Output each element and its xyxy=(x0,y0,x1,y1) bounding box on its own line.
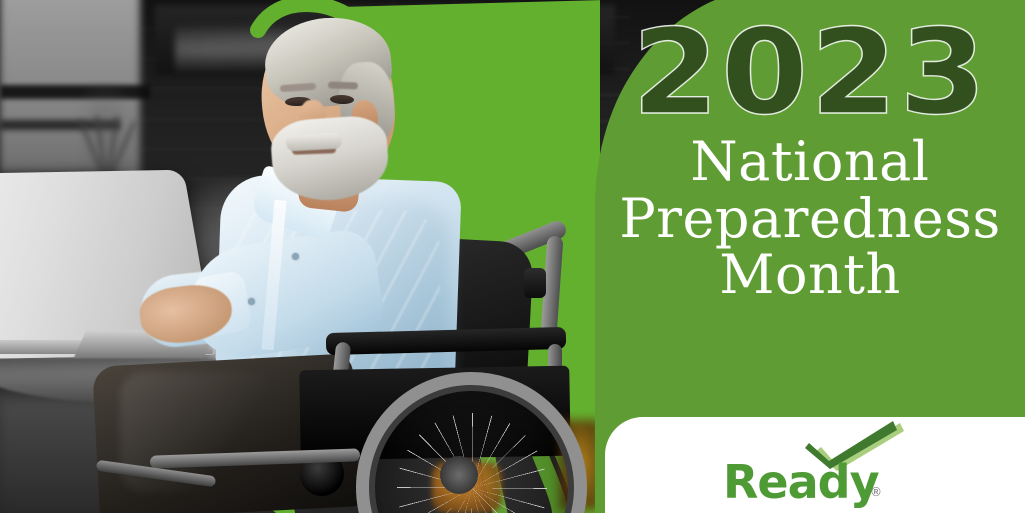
wheelchair-wheel xyxy=(356,372,587,513)
campaign-title-line-3: Month xyxy=(600,247,1020,303)
campaign-title-line-2: Preparedness xyxy=(600,191,1020,247)
ready-logo-card: Ready ® xyxy=(605,417,1025,513)
ready-logo[interactable]: Ready ® xyxy=(723,419,913,511)
preparedness-banner: 2023 National Preparedness Month Ready ® xyxy=(0,0,1025,513)
registered-trademark-symbol: ® xyxy=(870,485,882,499)
campaign-title: National Preparedness Month xyxy=(600,134,1020,302)
wheelchair-wheel-hub xyxy=(440,456,478,494)
year-heading: 2023 xyxy=(632,12,989,132)
ready-wordmark: Ready xyxy=(723,459,879,505)
campaign-title-line-1: National xyxy=(600,134,1020,190)
